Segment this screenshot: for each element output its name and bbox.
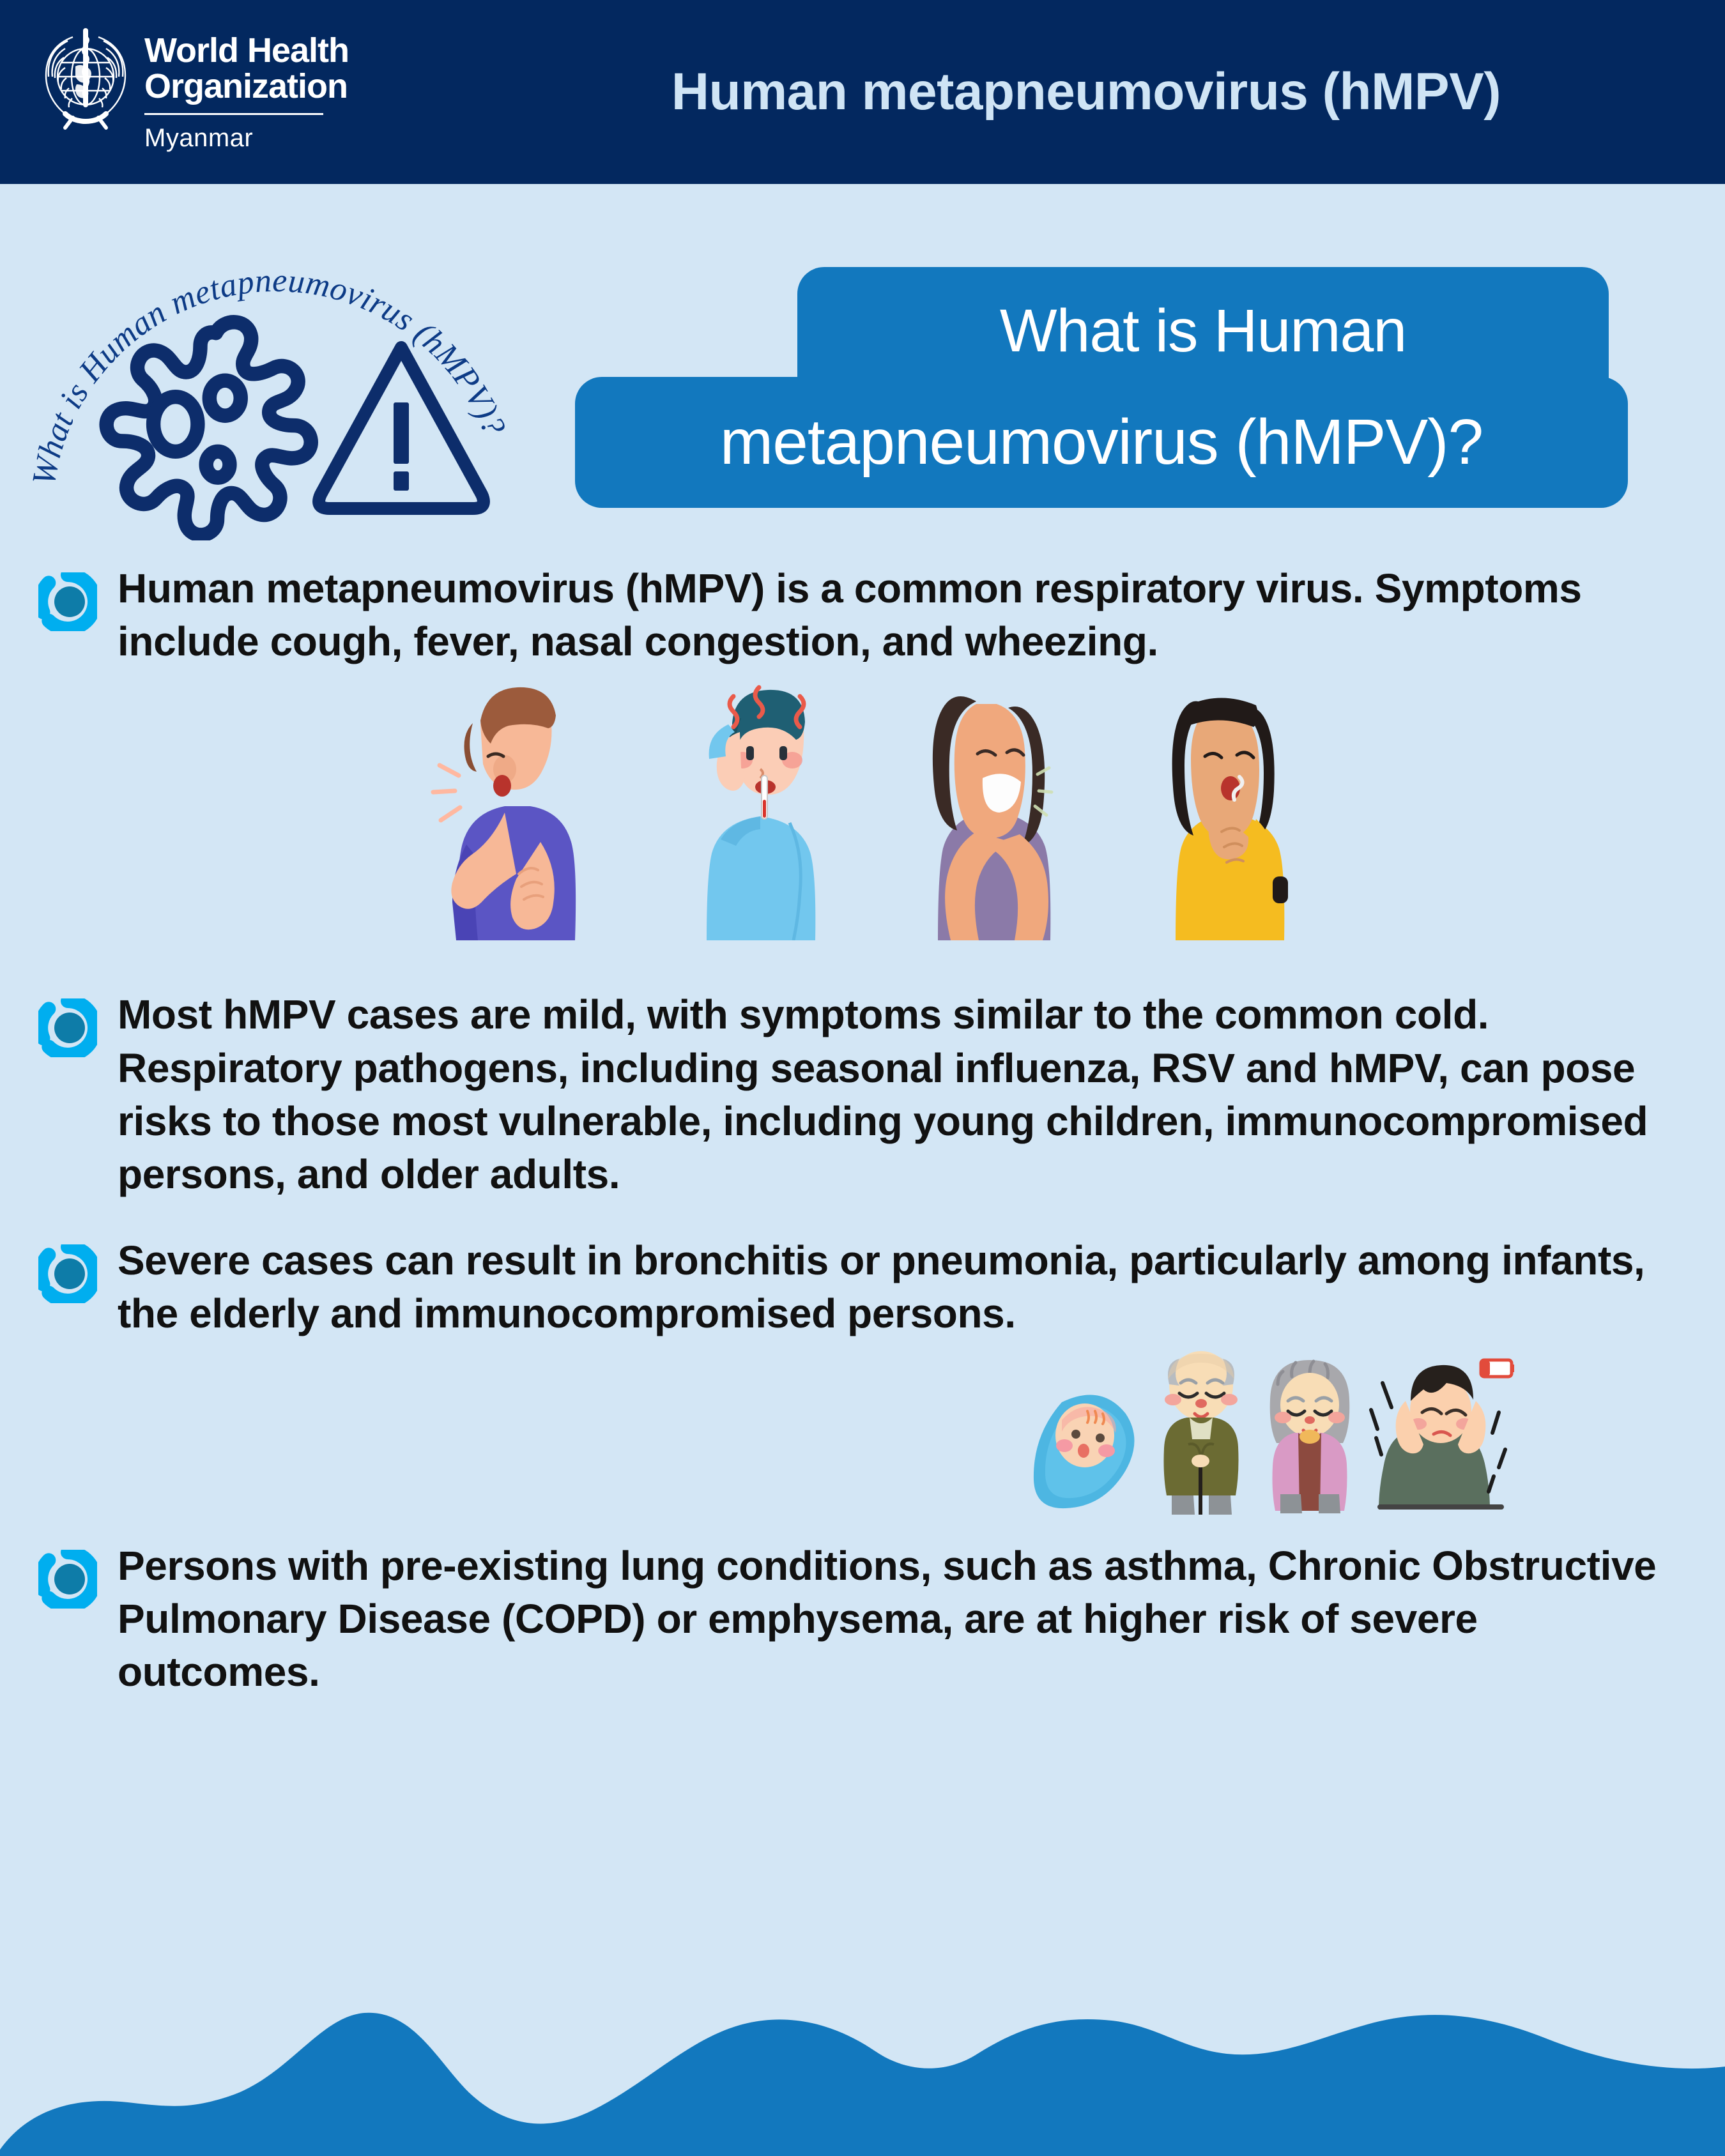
who-org-line-2: Organization bbox=[144, 69, 349, 105]
bullet-overview-text: Human metapneumovirus (hMPV) is a common… bbox=[118, 562, 1667, 668]
question-banner-top: What is Human bbox=[797, 267, 1609, 395]
person-fever-thermometer-figure bbox=[664, 685, 856, 944]
question-banner-bottom: metapneumovirus (hMPV)? bbox=[575, 377, 1628, 508]
swaddled-baby-figure bbox=[1029, 1374, 1144, 1518]
question-banner-line-1: What is Human bbox=[1000, 296, 1406, 366]
arc-badge: What is Human metapneumovirus (hMPV)? bbox=[19, 195, 549, 540]
who-country-label: Myanmar bbox=[144, 124, 349, 153]
symptom-illustrations bbox=[0, 685, 1725, 944]
fatigued-person-low-battery-figure bbox=[1367, 1349, 1514, 1518]
who-emblem-icon bbox=[37, 18, 134, 130]
elderly-man-with-cane-figure bbox=[1150, 1349, 1252, 1518]
bullet-lung-conditions: Persons with pre-existing lung condition… bbox=[0, 1540, 1725, 1699]
page-header: World Health Organization Myanmar Human … bbox=[0, 0, 1725, 184]
person-coughing-figure bbox=[409, 685, 620, 944]
person-sneezing-tissue-figure bbox=[901, 685, 1092, 944]
question-banner-line-2: metapneumovirus (hMPV)? bbox=[720, 406, 1483, 479]
bullet-severe-cases-text: Severe cases can result in bronchitis or… bbox=[118, 1234, 1667, 1340]
bullet-mild-cases: Most hMPV cases are mild, with symptoms … bbox=[0, 988, 1725, 1201]
who-org-line-1: World Health bbox=[144, 33, 349, 69]
bottom-wave-decoration bbox=[0, 1977, 1725, 2156]
low-battery-icon bbox=[1481, 1360, 1514, 1377]
bullet-ring-icon bbox=[38, 1550, 97, 1609]
who-divider bbox=[144, 113, 323, 115]
bullet-ring-icon bbox=[38, 998, 97, 1057]
elderly-woman-figure bbox=[1259, 1355, 1361, 1518]
person-sore-throat-figure bbox=[1137, 685, 1316, 944]
bullet-lung-conditions-text: Persons with pre-existing lung condition… bbox=[118, 1540, 1667, 1699]
page-title: Human metapneumovirus (hMPV) bbox=[460, 0, 1712, 184]
bullet-severe-cases: Severe cases can result in bronchitis or… bbox=[0, 1234, 1725, 1340]
hero-section: What is Human metapneumovirus (hMPV)? Wh… bbox=[0, 184, 1725, 542]
vulnerable-illustrations bbox=[0, 1349, 1725, 1518]
warning-triangle-icon bbox=[319, 348, 484, 508]
virus-icon bbox=[107, 322, 311, 535]
bullet-ring-icon bbox=[38, 1244, 97, 1303]
content-area: Human metapneumovirus (hMPV) is a common… bbox=[0, 562, 1725, 1699]
bullet-overview: Human metapneumovirus (hMPV) is a common… bbox=[0, 562, 1725, 668]
who-logo-block: World Health Organization Myanmar bbox=[37, 14, 395, 153]
bullet-ring-icon bbox=[38, 572, 97, 631]
bullet-mild-cases-text: Most hMPV cases are mild, with symptoms … bbox=[118, 988, 1667, 1201]
who-wordmark: World Health Organization Myanmar bbox=[144, 14, 349, 153]
